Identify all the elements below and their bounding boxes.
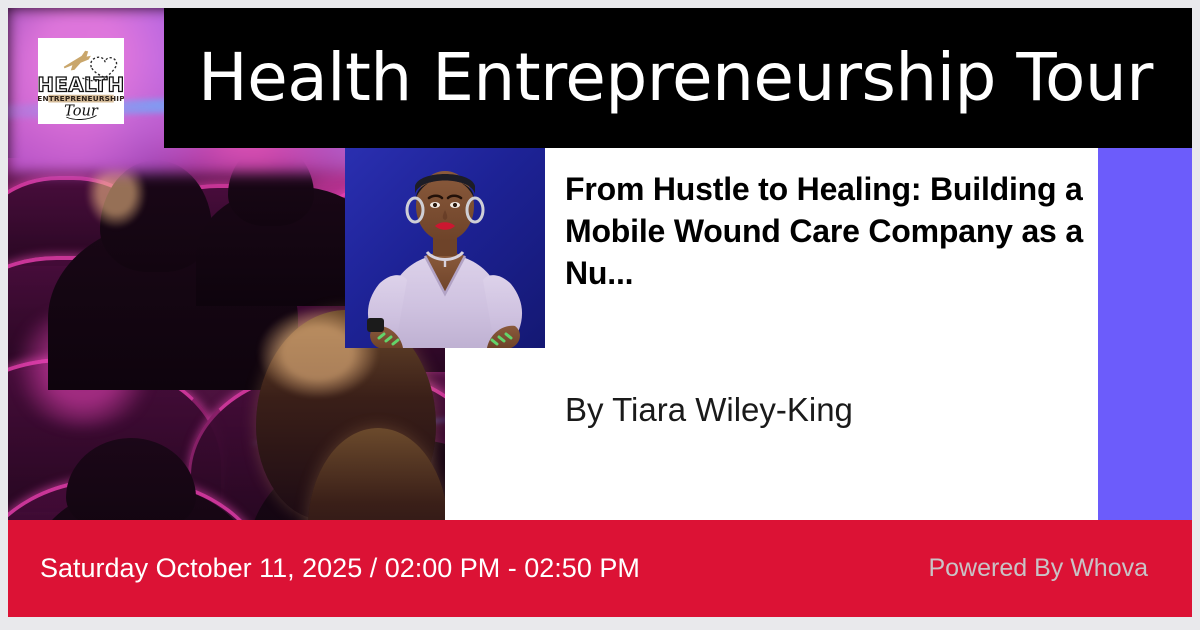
page-title: Health Entrepreneurship Tour — [198, 45, 1153, 111]
session-title: From Hustle to Healing: Building a Mobil… — [565, 168, 1085, 295]
session-datetime: Saturday October 11, 2025 / 02:00 PM - 0… — [40, 553, 640, 584]
speaker-headshot — [345, 148, 545, 348]
logo-line-health: HEALTH — [38, 73, 124, 96]
event-session-card: Health Entrepreneurship Tour HEALTH ENTR… — [8, 8, 1192, 617]
event-logo-graphic: HEALTH ENTREPRENEURSHIP Tour — [38, 38, 124, 124]
powered-by-label: Powered By Whova — [928, 554, 1148, 583]
session-footer: Saturday October 11, 2025 / 02:00 PM - 0… — [8, 520, 1192, 617]
event-logo[interactable]: HEALTH ENTREPRENEURSHIP Tour — [38, 38, 124, 124]
speaker-headshot-graphic — [345, 148, 545, 348]
session-speaker-panel — [445, 348, 1098, 520]
session-speaker: By Tiara Wiley-King — [565, 390, 1085, 430]
event-title-banner: Health Entrepreneurship Tour — [164, 8, 1192, 148]
accent-color-block — [1098, 148, 1192, 520]
